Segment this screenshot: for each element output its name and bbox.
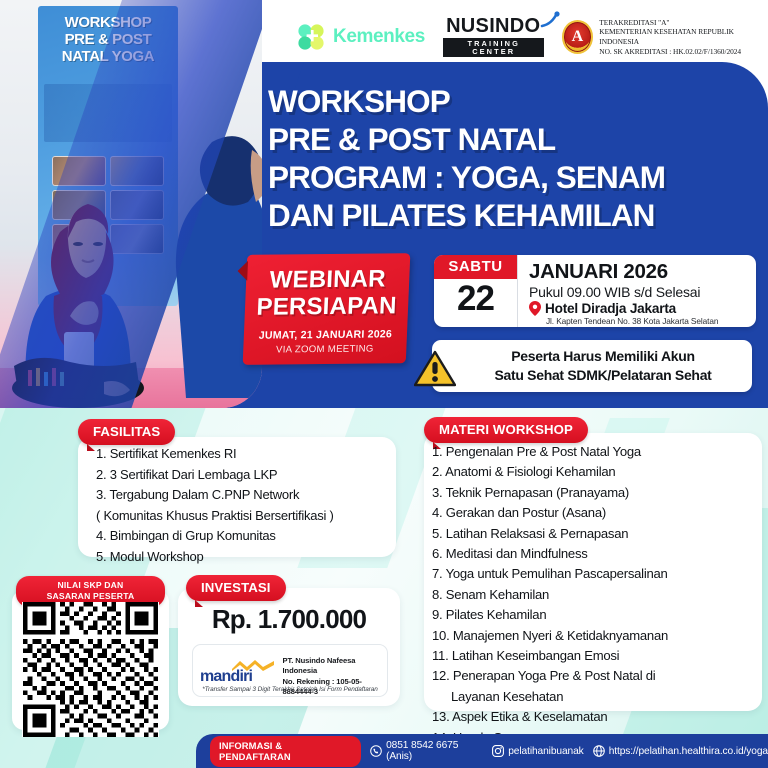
accreditation-block: A TERAKREDITASI "A" KEMENTERIAN KESEHATA… bbox=[562, 18, 762, 56]
webinar-line1: WEBINAR bbox=[246, 265, 410, 294]
accreditation-line3: NO. SK AKREDITASI : HK.02.02/F/1360/2024 bbox=[599, 47, 762, 57]
kemenkes-label: Kemenkes bbox=[333, 26, 425, 48]
event-address: Jl. Kapten Tendean No. 38 Kota Jakarta S… bbox=[546, 316, 756, 326]
accreditation-text: TERAKREDITASI "A" KEMENTERIAN KESEHATAN … bbox=[599, 18, 762, 56]
footer-website-text: https://pelatihan.healthira.co.id/yoga bbox=[609, 746, 768, 757]
top-section: WORKSHOP PRE & POST NATAL YOGA bbox=[0, 0, 768, 410]
kemenkes-icon bbox=[296, 22, 326, 52]
list-item: 4. Bimbingan di Grup Komunitas bbox=[96, 526, 396, 547]
webinar-line2: PERSIAPAN bbox=[244, 292, 408, 321]
calendar-day-number: 22 bbox=[434, 279, 517, 319]
footer-phone[interactable]: 0851 8542 6675 (Anis) bbox=[370, 740, 483, 762]
nusindo-swoosh-icon bbox=[540, 11, 560, 29]
bank-details-box: mandiri PT. Nusindo Nafeesa Indonesia No… bbox=[192, 644, 388, 697]
list-item: 2. 3 Sertifikat Dari Lembaga LKP bbox=[96, 465, 396, 486]
skp-badge-line2: SASARAN PESERTA bbox=[16, 591, 165, 602]
list-item: 7. Yoga untuk Pemulihan Pascapersalinan bbox=[432, 564, 762, 584]
notice-text: Peserta Harus Memiliki Akun Satu Sehat S… bbox=[472, 347, 711, 385]
title-line-1: WORKSHOP bbox=[268, 82, 760, 120]
event-month-year: JANUARI 2026 bbox=[529, 260, 756, 284]
list-item: 1. Sertifikat Kemenkes RI bbox=[96, 444, 396, 465]
title-line-3: PROGRAM : YOGA, SENAM bbox=[268, 158, 760, 196]
list-item: 10. Manajemen Nyeri & Ketidaknyamanan bbox=[432, 626, 762, 646]
calendar-day-name: SABTU bbox=[434, 255, 517, 279]
accreditation-line2: KEMENTERIAN KESEHATAN REPUBLIK INDONESIA bbox=[599, 27, 762, 46]
account-holder: PT. Nusindo Nafeesa Indonesia bbox=[283, 656, 387, 677]
nusindo-wordmark: NUSINDO bbox=[446, 15, 540, 37]
globe-icon bbox=[593, 745, 605, 757]
event-details: JANUARI 2026 Pukul 09.00 WIB s/d Selesai… bbox=[518, 255, 756, 327]
fasilitas-badge: FASILITAS bbox=[78, 419, 175, 445]
calendar-block: SABTU 22 bbox=[434, 255, 518, 327]
list-item: 8. Senam Kehamilan bbox=[432, 585, 762, 605]
investasi-price: Rp. 1.700.000 bbox=[178, 604, 400, 635]
footer-badge: INFORMASI & PENDAFTARAN bbox=[210, 736, 361, 767]
page-title: WORKSHOP PRE & POST NATAL PROGRAM : YOGA… bbox=[268, 82, 760, 234]
list-item: 3. Teknik Pernapasan (Pranayama) bbox=[432, 483, 762, 503]
event-time: Pukul 09.00 WIB s/d Selesai bbox=[529, 284, 756, 300]
webinar-platform: VIA ZOOM MEETING bbox=[243, 343, 407, 356]
footer-instagram[interactable]: pelatihanibuanak bbox=[492, 745, 583, 757]
footer-website[interactable]: https://pelatihan.healthira.co.id/yoga bbox=[593, 745, 768, 757]
investasi-badge: INVESTASI bbox=[186, 575, 286, 601]
notice-line1: Peserta Harus Memiliki Akun bbox=[494, 347, 711, 366]
footer-instagram-text: pelatihanibuanak bbox=[508, 746, 583, 757]
warning-icon bbox=[414, 350, 456, 388]
list-item: 3. Tergabung Dalam C.PNP Network bbox=[96, 485, 396, 506]
nusindo-subtitle: TRAINING CENTER bbox=[443, 38, 544, 57]
title-line-2: PRE & POST NATAL bbox=[268, 120, 760, 158]
event-venue: Hotel Diradja Jakarta bbox=[545, 301, 676, 316]
nusindo-name: NUSINDO bbox=[443, 16, 544, 36]
list-item: 4. Gerakan dan Postur (Asana) bbox=[432, 503, 762, 523]
notice-line2: Satu Sehat SDMK/Pelataran Sehat bbox=[494, 366, 711, 385]
list-item: Layanan Kesehatan bbox=[432, 687, 762, 707]
materi-list: 1. Pengenalan Pre & Post Natal Yoga 2. A… bbox=[432, 442, 762, 748]
list-item: ( Komunitas Khusus Praktisi Bersertifika… bbox=[96, 506, 396, 527]
skp-badge-line1: NILAI SKP DAN bbox=[16, 580, 165, 591]
list-item: 5. Modul Workshop bbox=[96, 547, 396, 568]
whatsapp-icon bbox=[370, 745, 382, 757]
event-date-card: SABTU 22 JANUARI 2026 Pukul 09.00 WIB s/… bbox=[434, 255, 756, 327]
hero-photo: WORKSHOP PRE & POST NATAL YOGA bbox=[0, 0, 262, 408]
list-item: 9. Pilates Kehamilan bbox=[432, 605, 762, 625]
list-item: 2. Anatomi & Fisiologi Kehamilan bbox=[432, 462, 762, 482]
instagram-icon bbox=[492, 745, 504, 757]
list-item: 6. Meditasi dan Mindfulness bbox=[432, 544, 762, 564]
accreditation-seal-icon: A bbox=[562, 20, 594, 54]
fasilitas-list: 1. Sertifikat Kemenkes RI 2. 3 Sertifika… bbox=[96, 444, 396, 568]
qr-code[interactable] bbox=[22, 602, 159, 737]
event-venue-row: Hotel Diradja Jakarta bbox=[529, 301, 756, 316]
nusindo-logo: NUSINDO TRAINING CENTER bbox=[443, 16, 544, 57]
poster-root: WORKSHOP PRE & POST NATAL YOGA bbox=[0, 0, 768, 768]
webinar-tag: WEBINAR PERSIAPAN JUMAT, 21 JANUARI 2026… bbox=[243, 253, 411, 365]
transfer-note: *Transfer Sampai 3 Digit Terakhir Setela… bbox=[193, 686, 387, 693]
materi-badge: MATERI WORKSHOP bbox=[424, 417, 588, 443]
accreditation-line1: TERAKREDITASI "A" bbox=[599, 18, 762, 28]
list-item: 1. Pengenalan Pre & Post Natal Yoga bbox=[432, 442, 762, 462]
mandiri-wave-icon bbox=[231, 659, 275, 671]
location-pin-icon bbox=[529, 301, 541, 316]
list-item: 5. Latihan Relaksasi & Pernapasan bbox=[432, 524, 762, 544]
list-item: 13. Aspek Etika & Keselamatan bbox=[432, 707, 762, 727]
title-line-4: DAN PILATES KEHAMILAN bbox=[268, 196, 760, 234]
list-item: 11. Latihan Keseimbangan Emosi bbox=[432, 646, 762, 666]
logo-row: Kemenkes NUSINDO TRAINING CENTER A TERAK… bbox=[296, 14, 762, 60]
mandiri-logo: mandiri bbox=[200, 668, 277, 686]
webinar-date: JUMAT, 21 JANUARI 2026 bbox=[244, 328, 408, 342]
footer-phone-text: 0851 8542 6675 (Anis) bbox=[386, 740, 483, 762]
kemenkes-logo: Kemenkes bbox=[296, 22, 425, 52]
list-item: 12. Penerapan Yoga Pre & Post Natal di bbox=[432, 666, 762, 686]
footer-bar: INFORMASI & PENDAFTARAN 0851 8542 6675 (… bbox=[196, 734, 768, 768]
account-notice: Peserta Harus Memiliki Akun Satu Sehat S… bbox=[432, 340, 752, 392]
